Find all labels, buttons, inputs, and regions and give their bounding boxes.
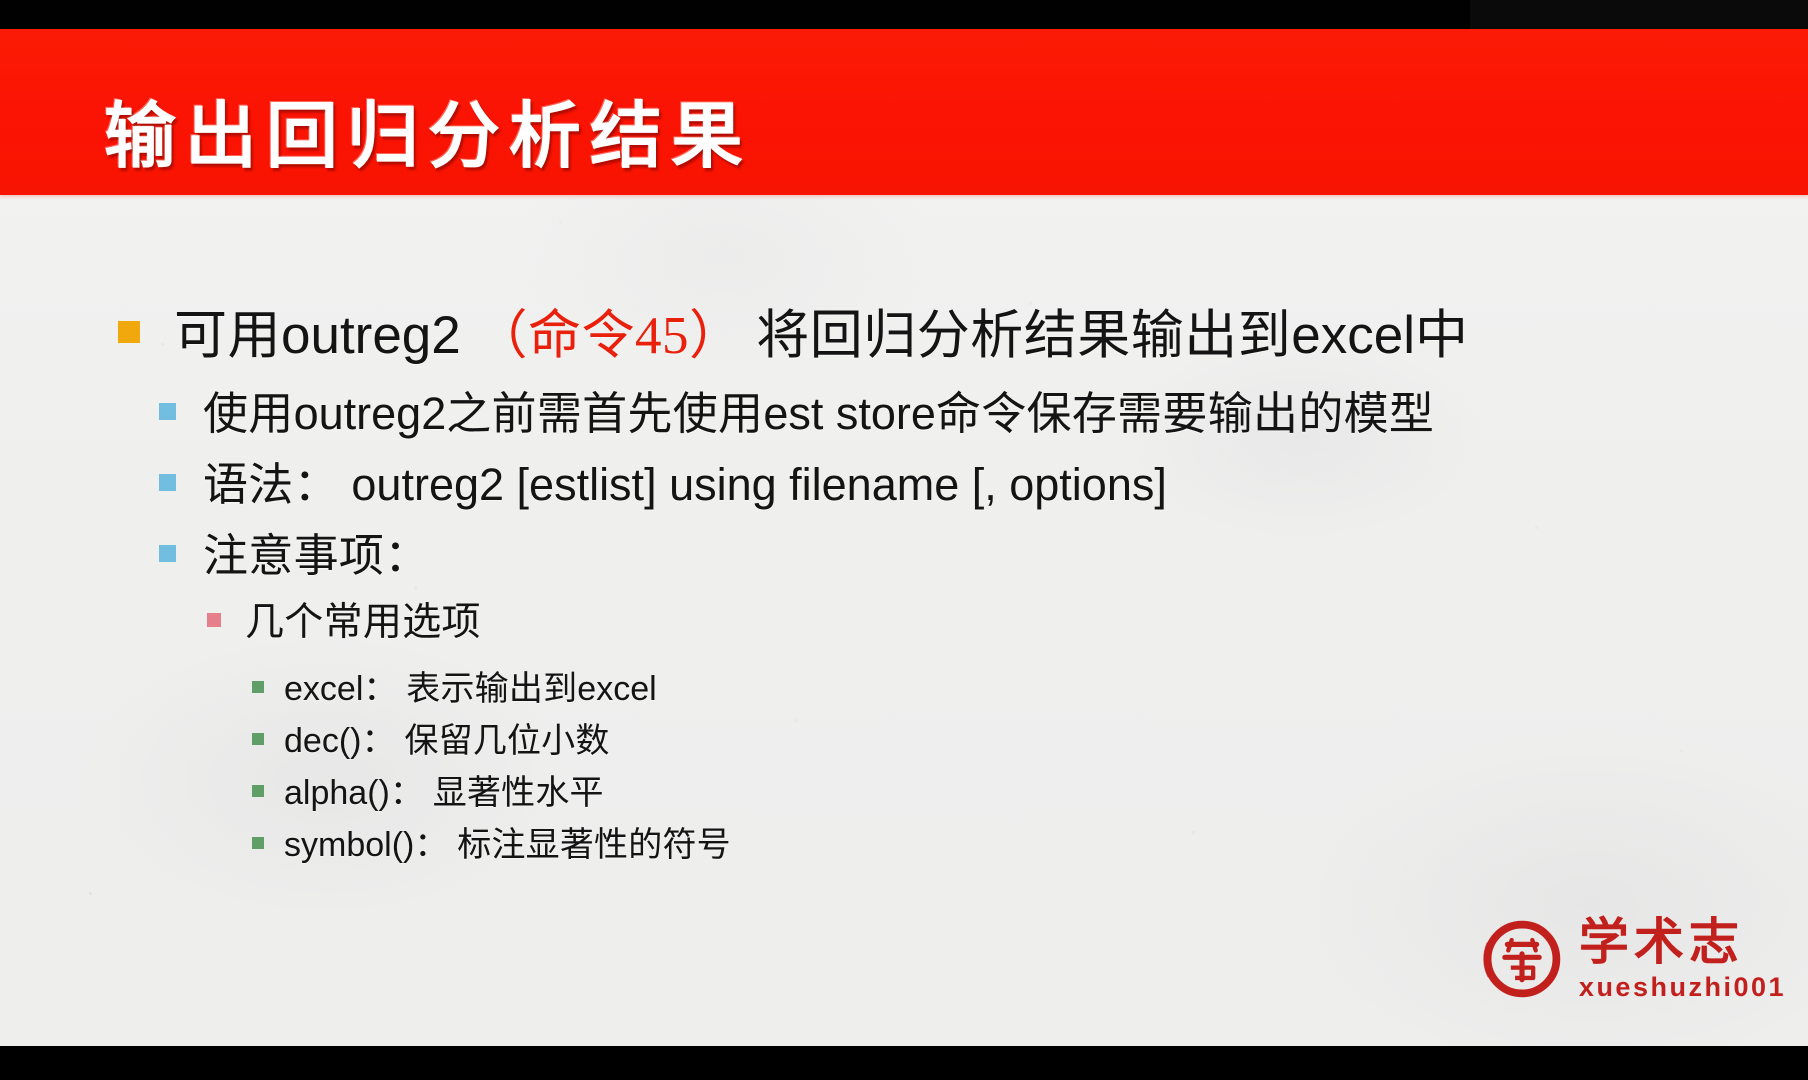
bullet-level2-text: 语法： outreg2 [estlist] using filename [, … [203, 448, 1167, 513]
text-segment: 中 [1415, 307, 1469, 365]
text-segment-code: excel [1291, 306, 1415, 365]
letterbox-bottom-bar [0, 1046, 1808, 1080]
bullet-level2-notes: 注意事项： [159, 519, 430, 584]
bullet-level4-text: symbol()： 标注显著性的符号 [284, 817, 731, 866]
text-segment-code: symbol() [284, 826, 414, 864]
bullet-marker-square-green [252, 837, 264, 849]
watermark-brand-cn: 学术志 [1579, 917, 1744, 967]
text-segment-code: dec() [284, 722, 361, 760]
text-segment: 命令保存需要输出的模型 [936, 389, 1434, 439]
bullet-level2-syntax: 语法： outreg2 [estlist] using filename [, … [159, 448, 1167, 513]
watermark-text-block: 学术志 xueshuzhi001 [1579, 917, 1786, 1001]
bullet-level2-text: 注意事项： [203, 519, 430, 584]
text-segment-code: alpha() [284, 774, 390, 812]
text-segment-highlight: （命令45） [461, 307, 757, 365]
text-segment-code: outreg2 [294, 388, 447, 439]
bullet-level4-symbol: symbol()： 标注显著性的符号 [252, 817, 731, 866]
bullet-level4-text: alpha()： 显著性水平 [284, 765, 604, 814]
bullet-marker-square-green [252, 785, 264, 797]
bullet-marker-square-pink [207, 613, 221, 627]
bullet-level1-text: 可用outreg2 （命令45） 将回归分析结果输出到excel中 [174, 293, 1469, 369]
bullet-level2-text: 使用outreg2之前需首先使用est store命令保存需要输出的模型 [203, 377, 1434, 442]
text-segment: ： 显著性水平 [390, 775, 604, 812]
text-segment-code: outreg2 [281, 306, 461, 365]
text-segment: 语法： [203, 460, 339, 510]
text-segment: 可用 [174, 307, 281, 365]
bullet-level4-text: dec()： 保留几位小数 [284, 713, 610, 762]
watermark: 学术志 xueshuzhi001 [1479, 916, 1786, 1002]
bullet-marker-square-blue [159, 545, 176, 562]
bullet-level4-text: excel： 表示输出到excel [284, 661, 657, 710]
bullet-level4-alpha: alpha()： 显著性水平 [252, 765, 604, 814]
bullet-level2-est-store: 使用outreg2之前需首先使用est store命令保存需要输出的模型 [159, 377, 1434, 442]
text-segment: ： 保留几位小数 [361, 723, 609, 760]
presentation-slide: 输出回归分析结果 可用outreg2 （命令45） 将回归分析结果输出到exce… [0, 29, 1808, 1046]
watermark-brand-en: xueshuzhi001 [1579, 974, 1786, 1001]
text-segment: ： 表示输出到 [363, 671, 577, 708]
bullet-level3-text: 几个常用选项 [245, 591, 481, 647]
bullet-marker-square-blue [159, 474, 176, 491]
seal-logo-icon [1479, 916, 1565, 1002]
text-segment: 使用 [203, 389, 294, 439]
text-segment: 将回归分析结果输出到 [756, 307, 1291, 365]
bullet-marker-square-orange [118, 321, 140, 343]
text-segment-code: excel [284, 670, 363, 708]
page-title: 输出回归分析结果 [104, 77, 752, 182]
bullet-level4-dec: dec()： 保留几位小数 [252, 713, 610, 762]
bullet-marker-square-blue [159, 403, 176, 420]
bullet-level3-common-options: 几个常用选项 [207, 591, 481, 647]
title-banner: 输出回归分析结果 [0, 29, 1808, 195]
text-segment-code: est store [763, 388, 936, 439]
text-segment: 之前需首先使用 [446, 389, 763, 439]
video-frame: 输出回归分析结果 可用outreg2 （命令45） 将回归分析结果输出到exce… [0, 0, 1808, 1080]
letterbox-top-highlight [1470, 0, 1808, 29]
text-segment: ： 标注显著性的符号 [414, 827, 731, 864]
bullet-level4-excel: excel： 表示输出到excel [252, 661, 657, 710]
bullet-level1-outreg2: 可用outreg2 （命令45） 将回归分析结果输出到excel中 [118, 293, 1469, 369]
bullet-marker-square-green [252, 681, 264, 693]
text-segment-code: excel [577, 670, 656, 708]
text-segment-code: outreg2 [estlist] using filename [, opti… [339, 459, 1167, 510]
bullet-marker-square-green [252, 733, 264, 745]
